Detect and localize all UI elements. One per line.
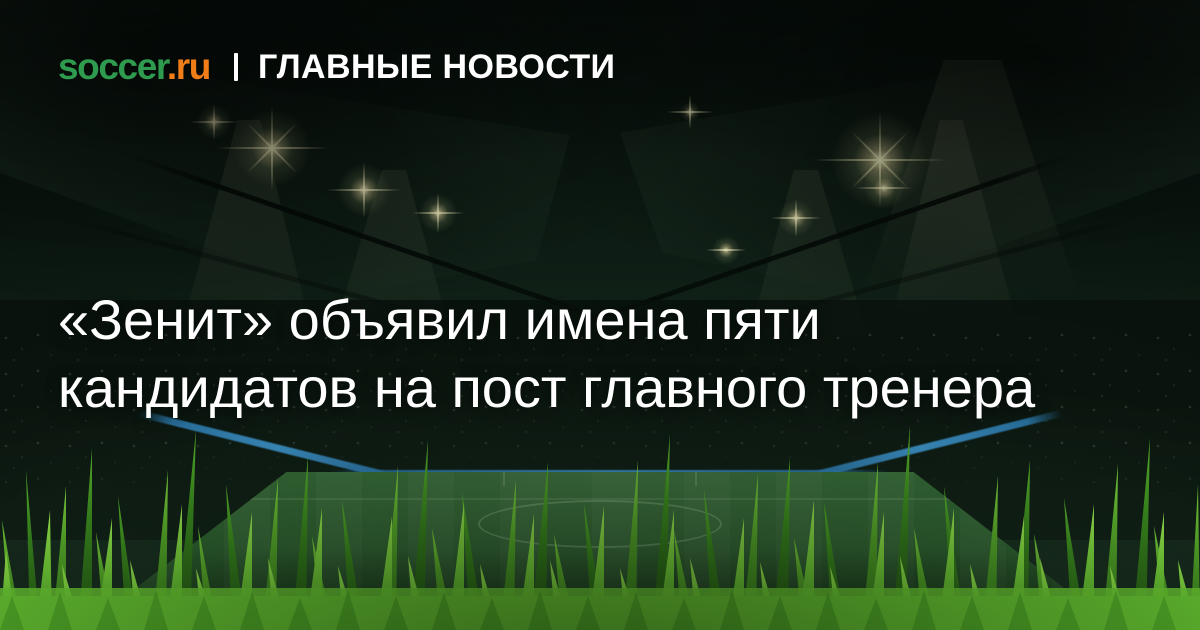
news-banner: soccer.ru ГЛАВНЫЕ НОВОСТИ «Зенит» объяви… bbox=[0, 0, 1200, 630]
headline: «Зенит» объявил имена пяти кандидатов на… bbox=[58, 286, 1168, 422]
logo-domain-part: .ru bbox=[167, 46, 210, 87]
headline-line-1: «Зенит» объявил имена пяти bbox=[58, 286, 1168, 354]
headline-line-2: кандидатов на пост главного тренера bbox=[58, 354, 1168, 422]
banner-header: soccer.ru ГЛАВНЫЕ НОВОСТИ bbox=[58, 48, 615, 85]
section-title: ГЛАВНЫЕ НОВОСТИ bbox=[258, 50, 615, 84]
soccer-ru-logo[interactable]: soccer.ru bbox=[58, 48, 210, 85]
logo-name-part: soccer bbox=[58, 46, 167, 87]
header-separator bbox=[234, 53, 238, 81]
